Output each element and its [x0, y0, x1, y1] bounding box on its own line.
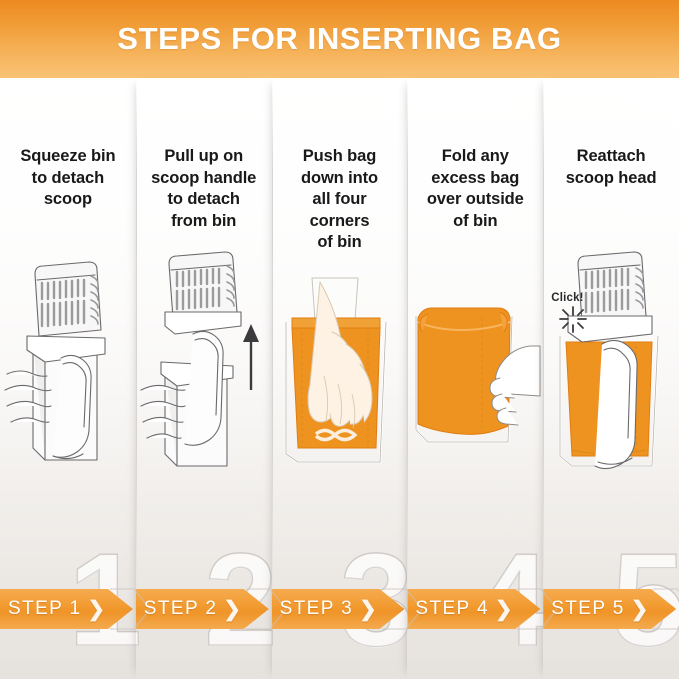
caption-line: corners	[275, 211, 405, 233]
chevron-right-icon: ❯	[359, 597, 377, 622]
step-caption-5: Reattach scoop head	[543, 146, 679, 189]
step-panel-5: 5 Reattach scoop head Click!	[543, 78, 679, 679]
page-title: STEPS FOR INSERTING BAG	[117, 21, 561, 57]
step-illustration-2	[136, 250, 272, 500]
step-panel-4: 4 Fold any excess bag over outside of bi…	[407, 78, 543, 679]
step-illustration-3	[272, 250, 408, 500]
steps-row: 1 Squeeze bin to detach scoop	[0, 78, 679, 679]
step-banner-label-3: STEP 3	[272, 598, 354, 620]
step-illustration-4	[407, 250, 543, 500]
caption-line: Push bag	[275, 146, 405, 168]
chevron-right-icon: ❯	[631, 597, 649, 622]
chevron-right-icon: ❯	[495, 597, 513, 622]
step-panel-2: 2 Pull up on scoop handle to detach from…	[136, 78, 272, 679]
step-caption-4: Fold any excess bag over outside of bin	[407, 146, 543, 232]
caption-line: Pull up on	[139, 146, 269, 168]
step-illustration-5: Click!	[543, 250, 679, 500]
step-banner-label-1: STEP 1	[0, 598, 82, 620]
steps-infographic: STEPS FOR INSERTING BAG 1 Squeeze bin to…	[0, 0, 679, 679]
caption-line: all four	[275, 189, 405, 211]
caption-line: scoop handle	[139, 168, 269, 190]
step-banner-2: STEP 2 ❯	[136, 589, 269, 629]
caption-line: down into	[275, 168, 405, 190]
caption-line: scoop	[3, 189, 133, 211]
caption-line: to detach	[139, 189, 269, 211]
caption-line: from bin	[139, 211, 269, 233]
caption-line: scoop head	[546, 168, 676, 190]
step-caption-3: Push bag down into all four corners of b…	[272, 146, 408, 254]
caption-line: of bin	[410, 211, 540, 233]
up-arrow-icon	[243, 324, 259, 390]
caption-line: excess bag	[410, 168, 540, 190]
step-illustration-1	[0, 250, 136, 500]
caption-line: over outside	[410, 189, 540, 211]
caption-line: Reattach	[546, 146, 676, 168]
banner-outline-chevron-icon	[651, 587, 679, 631]
caption-line: to detach	[3, 168, 133, 190]
step-panel-3: 3 Push bag down into all four corners of…	[272, 78, 408, 679]
caption-line: Squeeze bin	[3, 146, 133, 168]
header-banner: STEPS FOR INSERTING BAG	[0, 0, 679, 78]
chevron-right-icon: ❯	[223, 597, 241, 622]
step-caption-2: Pull up on scoop handle to detach from b…	[136, 146, 272, 232]
chevron-right-icon: ❯	[88, 597, 106, 622]
step-banner-label-2: STEP 2	[136, 598, 218, 620]
step-banner-5: STEP 5 ❯	[543, 589, 676, 629]
step-panel-1: 1 Squeeze bin to detach scoop	[0, 78, 136, 679]
step-banner-1: STEP 1 ❯	[0, 589, 133, 629]
step-banner-label-4: STEP 4	[407, 598, 489, 620]
step-banner-label-5: STEP 5	[543, 598, 625, 620]
caption-line: Fold any	[410, 146, 540, 168]
step-banner-3: STEP 3 ❯	[272, 589, 405, 629]
step-caption-1: Squeeze bin to detach scoop	[0, 146, 136, 211]
step-banner-4: STEP 4 ❯	[407, 589, 540, 629]
